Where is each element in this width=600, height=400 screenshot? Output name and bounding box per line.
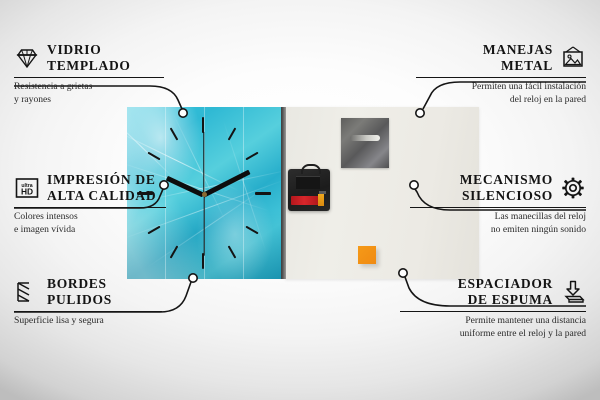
- second-hand: [203, 194, 204, 256]
- mechanism-loop: [301, 164, 321, 174]
- diamond-icon: [14, 46, 40, 70]
- feature-rule: [14, 77, 164, 79]
- hanger-slot: [350, 135, 380, 141]
- infographic-canvas: VIDRIO TEMPLADO Resistencia a grietas y …: [0, 0, 600, 400]
- feature-title: BORDES PULIDOS: [47, 276, 112, 308]
- feature-tempered-glass: VIDRIO TEMPLADO Resistencia a grietas y …: [14, 42, 164, 107]
- feature-description: Las manecillas del reloj no emiten ningú…: [410, 211, 586, 236]
- feature-metal-handles: MANEJAS METAL Permiten una fácil instala…: [416, 42, 586, 107]
- feature-header: MANEJAS METAL: [416, 42, 586, 74]
- feature-rule: [14, 207, 166, 209]
- feature-description: Resistencia a grietas y rayones: [14, 81, 164, 106]
- feature-header: VIDRIO TEMPLADO: [14, 42, 164, 74]
- feature-silent-mechanism: MECANISMO SILENCIOSO: [410, 172, 586, 237]
- feature-hd-print: ultra HD IMPRESIÓN DE ALTA CALIDAD Color…: [14, 172, 166, 237]
- hands-hub: [202, 192, 207, 197]
- foam-spacer-pad: [358, 246, 376, 264]
- feature-description: Permiten una fácil instalación del reloj…: [416, 81, 586, 106]
- feature-title: VIDRIO TEMPLADO: [47, 42, 131, 74]
- feature-rule: [14, 311, 162, 313]
- framed-picture-icon: [560, 46, 586, 70]
- ultra-hd-icon: ultra HD: [14, 176, 40, 200]
- feature-header: BORDES PULIDOS: [14, 276, 162, 308]
- metal-hanger-plate: [341, 118, 389, 168]
- svg-text:HD: HD: [21, 187, 33, 197]
- feature-polished-edges: BORDES PULIDOS Superficie lisa y segura: [14, 276, 162, 328]
- gear-icon: [560, 176, 586, 200]
- mechanism-slot: [296, 176, 320, 189]
- feature-description: Colores intensos e imagen vívida: [14, 211, 166, 236]
- feature-header: MECANISMO SILENCIOSO: [410, 172, 586, 204]
- battery-terminal: [318, 194, 324, 206]
- feature-description: Permite mantener una distancia uniforme …: [400, 315, 586, 340]
- feature-rule: [416, 77, 586, 79]
- feature-title: IMPRESIÓN DE ALTA CALIDAD: [47, 172, 156, 204]
- feature-rule: [400, 311, 586, 313]
- feature-title: ESPACIADOR DE ESPUMA: [458, 276, 553, 308]
- clock-mechanism: [288, 169, 330, 211]
- hour-tick-12: [202, 117, 204, 133]
- feature-foam-spacer: ESPACIADOR DE ESPUMA Permite mantener un…: [400, 276, 586, 341]
- hour-tick-3: [255, 192, 271, 195]
- feature-title: MECANISMO SILENCIOSO: [460, 172, 553, 204]
- feature-title: MANEJAS METAL: [483, 42, 553, 74]
- down-arrow-pad-icon: [560, 280, 586, 304]
- feature-header: ESPACIADOR DE ESPUMA: [400, 276, 586, 308]
- second-hand-counterweight: [203, 132, 204, 194]
- feature-description: Superficie lisa y segura: [14, 315, 162, 328]
- feature-header: ultra HD IMPRESIÓN DE ALTA CALIDAD: [14, 172, 166, 204]
- feature-rule: [410, 207, 586, 209]
- polished-edges-icon: [14, 280, 40, 304]
